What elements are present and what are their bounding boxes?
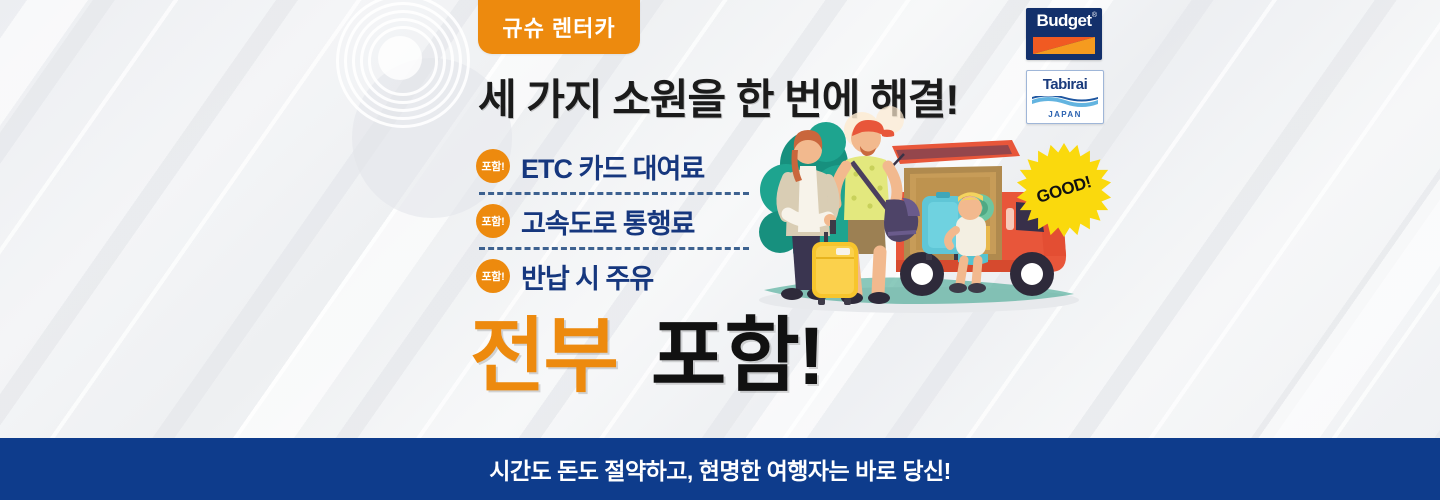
bottom-message-bar: 시간도 돈도 절약하고, 현명한 여행자는 바로 당신! xyxy=(0,438,1440,500)
included-badge: 포함! xyxy=(476,259,510,293)
slogan: 전부포함! xyxy=(470,316,823,398)
included-badge: 포함! xyxy=(476,204,510,238)
registered-trademark-icon: ® xyxy=(1092,12,1097,19)
list-item: 포함! 고속도로 통행료 xyxy=(476,197,751,245)
list-divider xyxy=(479,192,749,195)
list-item-label: 반납 시 주유 xyxy=(521,257,653,296)
slogan-highlight: 전부 xyxy=(470,311,617,402)
budget-logo-slash-icon xyxy=(1033,37,1095,54)
budget-logo[interactable]: Budget ® xyxy=(1026,8,1102,60)
list-item: 포함! ETC 카드 대여료 xyxy=(476,142,751,190)
bottom-message-text: 시간도 돈도 절약하고, 현명한 여행자는 바로 당신! xyxy=(489,452,951,486)
list-item-label: 고속도로 통행료 xyxy=(521,202,694,241)
slogan-main: 포함! xyxy=(651,311,823,402)
category-tag-label: 규슈 렌터카 xyxy=(502,11,615,43)
list-item-label: ETC 카드 대여료 xyxy=(521,147,704,186)
tabirai-logo[interactable]: Tabirai JAPAN xyxy=(1026,70,1104,124)
tabirai-logo-wordmark: Tabirai xyxy=(1027,76,1103,93)
list-item: 포함! 반납 시 주유 xyxy=(476,252,751,300)
category-tag: 규슈 렌터카 xyxy=(478,0,640,54)
good-sticker: GOOD! xyxy=(1016,142,1112,238)
list-divider xyxy=(479,247,749,250)
background-disc-small xyxy=(378,36,422,80)
included-badge: 포함! xyxy=(476,149,510,183)
budget-logo-wordmark: Budget xyxy=(1026,11,1102,31)
promo-banner: 규슈 렌터카 세 가지 소원을 한 번에 해결! 포함! ETC 카드 대여료 … xyxy=(0,0,1440,500)
feature-list: 포함! ETC 카드 대여료 포함! 고속도로 통행료 포함! 반납 시 주유 xyxy=(476,142,751,300)
tabirai-logo-country: JAPAN xyxy=(1027,110,1103,119)
